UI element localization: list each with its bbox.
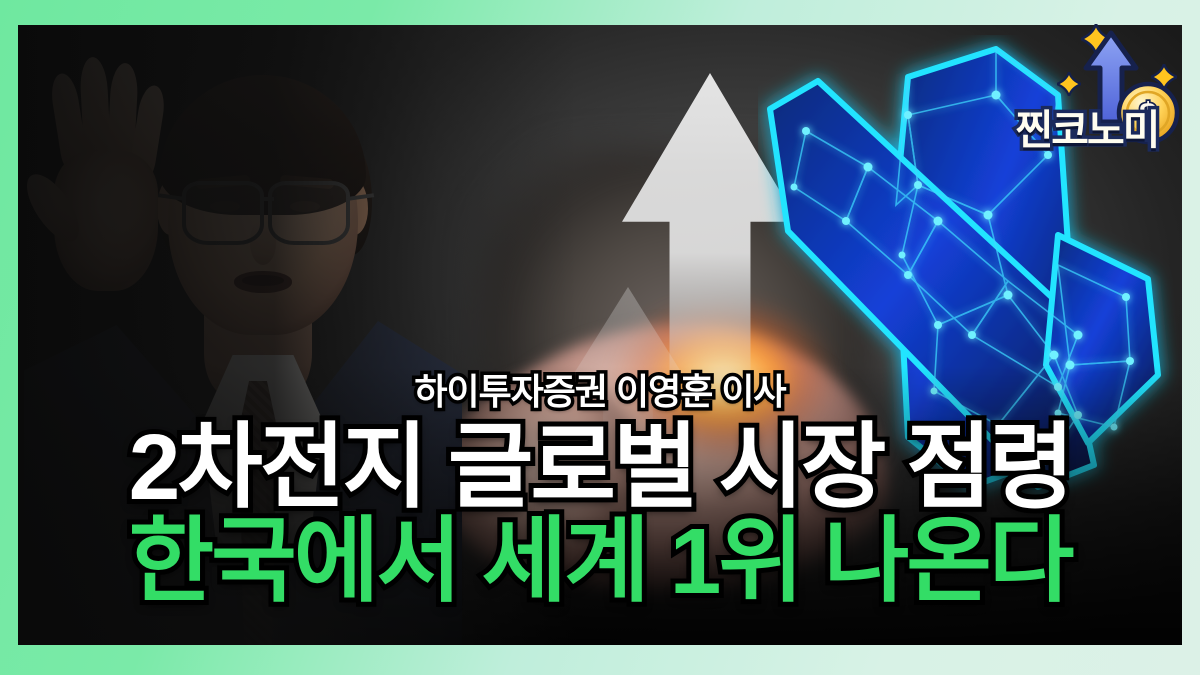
text-overlay: 하이투자증권 이영훈 이사 2차전지 글로벌 시장 점령 한국에서 세계 1위 … <box>18 372 1182 611</box>
sparkle-icon <box>1057 72 1081 96</box>
channel-logo[interactable]: $ 찐코노미 <box>1005 24 1187 152</box>
thumbnail-canvas: $ 찐코노미 하이투자증권 이영훈 이사 2차전지 글로벌 시장 점령 한국에서… <box>0 0 1200 675</box>
subtitle: 하이투자증권 이영훈 이사 <box>18 372 1182 412</box>
title-line-2: 한국에서 세계 1위 나온다 <box>18 512 1182 611</box>
title-line-1: 2차전지 글로벌 시장 점령 <box>18 418 1182 517</box>
logo-text: 찐코노미 <box>1003 110 1171 151</box>
